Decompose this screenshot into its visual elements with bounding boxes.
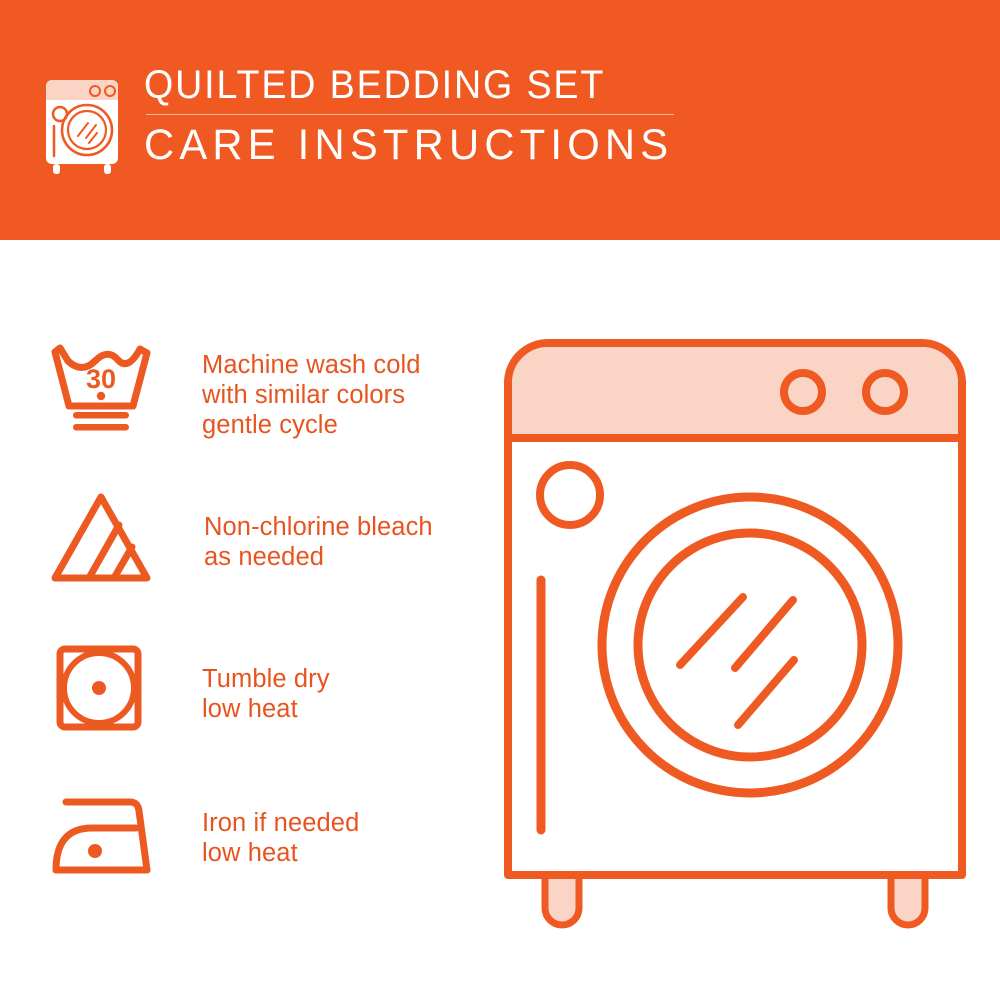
- care-label-line: Tumble dry: [202, 664, 330, 694]
- header-banner: QUILTED BEDDING SET CARE INSTRUCTIONS: [0, 0, 1000, 240]
- care-row: 30 Machine wash cold with similar colors…: [48, 336, 478, 486]
- header-titles: QUILTED BEDDING SET CARE INSTRUCTIONS: [144, 62, 844, 171]
- care-label-line: with similar colors: [202, 380, 421, 410]
- care-label-line: Machine wash cold: [202, 350, 421, 380]
- iron-low-heat-icon: [48, 786, 158, 900]
- care-row: Non-chlorine bleach as needed: [48, 486, 478, 636]
- care-label-line: Iron if needed: [202, 808, 359, 838]
- care-label: Tumble dry low heat: [158, 636, 330, 724]
- front-load-washing-machine-illustration: [495, 330, 975, 940]
- care-symbol-list: 30 Machine wash cold with similar colors…: [48, 336, 478, 936]
- care-label-line: as needed: [204, 542, 433, 572]
- care-label: Non-chlorine bleach as needed: [158, 486, 433, 572]
- page-title: QUILTED BEDDING SET: [144, 62, 802, 108]
- page-subtitle: CARE INSTRUCTIONS: [144, 119, 823, 171]
- washing-machine-logo-icon: [40, 70, 132, 176]
- control-panel: [512, 347, 958, 438]
- care-label: Iron if needed low heat: [158, 786, 359, 868]
- wash-tub-30-icon: 30: [48, 336, 158, 450]
- care-instructions-page: QUILTED BEDDING SET CARE INSTRUCTIONS 30: [0, 0, 1000, 1000]
- title-divider: [146, 114, 674, 115]
- tumble-dry-low-heat-icon: [48, 636, 158, 750]
- wash-temperature-label: 30: [86, 364, 116, 394]
- care-label: Machine wash cold with similar colors ge…: [158, 336, 421, 440]
- care-label-line: gentle cycle: [202, 410, 421, 440]
- care-label-line: low heat: [202, 694, 330, 724]
- non-chlorine-bleach-triangle-icon: [48, 486, 158, 600]
- care-row: Tumble dry low heat: [48, 636, 478, 786]
- care-row: Iron if needed low heat: [48, 786, 478, 936]
- care-label-line: Non-chlorine bleach: [204, 512, 433, 542]
- care-label-line: low heat: [202, 838, 359, 868]
